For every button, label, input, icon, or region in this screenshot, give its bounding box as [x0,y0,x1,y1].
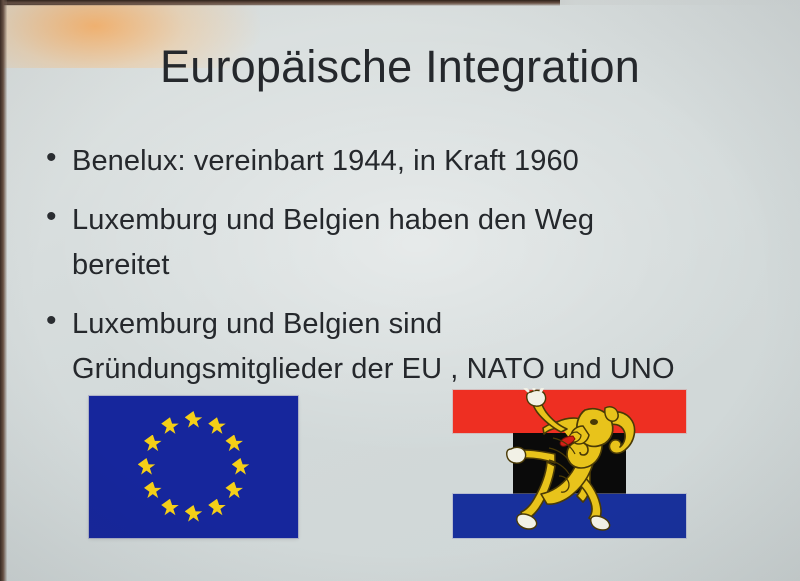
eu-star-icon [225,482,243,500]
projected-slide-photo: Europäische Integration • Benelux: verei… [0,0,800,581]
eu-star-icon [232,458,250,476]
eu-star-icon [208,499,226,517]
eu-star-icon [161,417,179,435]
screen-frame-top [0,0,560,6]
eu-star-icon [144,482,162,500]
eu-star-icon [225,435,243,453]
bullet-list: • Benelux: vereinbart 1944, in Kraft 196… [42,139,772,406]
benelux-flag-image [453,390,686,538]
bullet-marker-icon: • [42,139,72,177]
eu-star-icon [208,417,226,435]
list-item: • Luxemburg und Belgien haben den Weg be… [42,198,772,288]
eu-star-icon [161,499,179,517]
eu-star-icon [185,505,203,523]
bullet-marker-icon: • [42,302,72,340]
eu-star-icon [138,458,156,476]
eu-star-icon [144,435,162,453]
list-item-text: Luxemburg und Belgien sind Gründungsmitg… [72,302,675,392]
page-title: Europäische Integration [0,42,800,92]
eu-star-icon [185,411,203,429]
eu-flag-image [89,396,298,538]
list-item: • Luxemburg und Belgien sind Gründungsmi… [42,302,772,392]
list-item-text: Luxemburg und Belgien haben den Weg bere… [72,198,594,288]
bullet-marker-icon: • [42,198,72,236]
list-item-text: Benelux: vereinbart 1944, in Kraft 1960 [72,139,579,184]
rampant-lion-icon [497,388,647,540]
list-item: • Benelux: vereinbart 1944, in Kraft 196… [42,139,772,184]
